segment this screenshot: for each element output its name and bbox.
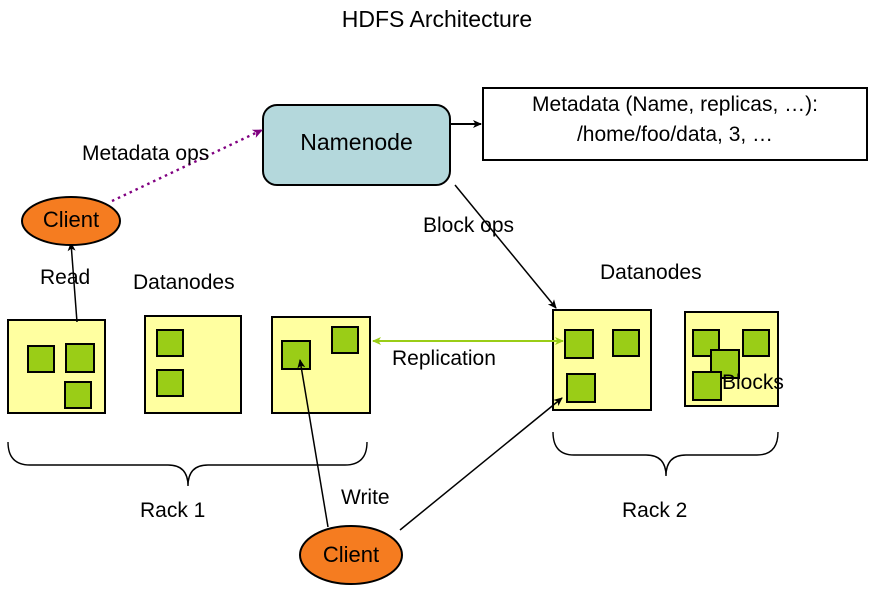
namenode-label: Namenode [263,131,450,154]
write-remote-arrow [400,398,562,530]
rack2-brace [553,432,778,476]
datanode-dn1 [8,320,105,413]
client-top-label: Client [22,209,120,231]
datanode-dn3 [272,317,370,413]
datanodes-right-label: Datanodes [600,262,702,283]
datanode-dn4 [553,310,651,410]
metadata-ops-label: Metadata ops [82,143,209,164]
read-label: Read [40,267,90,288]
diagram-shapes-layer [0,0,874,604]
block-ops-label: Block ops [423,215,514,236]
replication-label: Replication [392,348,496,369]
blocks-label: Blocks [722,372,784,393]
write-label: Write [341,487,390,508]
datanode-dn2 [145,316,241,413]
metadata-line-1: Metadata (Name, replicas, …): [484,94,866,115]
rack1-brace [8,442,367,486]
hdfs-architecture-diagram: HDFS Architecture [0,0,874,604]
client-bottom-label: Client [300,544,402,566]
block-ops-arrow [455,185,556,308]
rack2-label: Rack 2 [622,500,687,521]
datanodes-left-label: Datanodes [133,272,235,293]
metadata-ops-arrow [112,130,262,201]
metadata-line-2: /home/foo/data, 3, … [484,124,866,145]
rack1-label: Rack 1 [140,500,205,521]
